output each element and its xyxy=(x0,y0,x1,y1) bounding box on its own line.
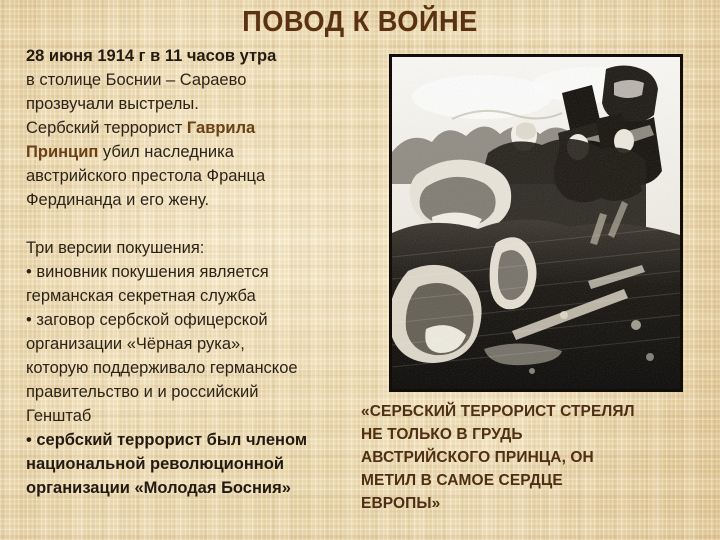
bullet-item-continuation: организации «Молодая Босния» xyxy=(26,476,362,500)
bullet-item-continuation: германская секретная служба xyxy=(26,284,362,308)
bullet-item-continuation: организации «Чёрная рука», xyxy=(26,332,362,356)
bullet-1-line-2: германская секретная служба xyxy=(26,287,256,305)
assassin-lastname: Принцип xyxy=(26,143,98,161)
sarajevo-assassination-image xyxy=(389,54,683,392)
bullet-2-line-5: Генштаб xyxy=(26,407,91,425)
bullet-item: • заговор сербской офицерской xyxy=(26,308,362,332)
bullet-3-line-2: национальной революционной xyxy=(26,455,284,473)
quote-line: «СЕРБСКИЙ ТЕРРОРИСТ СТРЕЛЯЛ xyxy=(361,400,713,423)
paragraph-line: 28 июня 1914 г в 11 часов утра xyxy=(26,44,362,68)
shots-line: прозвучали выстрелы. xyxy=(26,95,199,113)
bullet-1-line-1: • виновник покушения является xyxy=(26,263,269,281)
paragraph-line: Фердинанда и его жену. xyxy=(26,188,362,212)
killed-heir-text: убил наследника xyxy=(98,143,234,161)
bullet-2-line-4: правительство и и российский xyxy=(26,383,258,401)
austrian-throne-line: австрийского престола Франца xyxy=(26,167,265,185)
bullet-item-continuation: правительство и и российский xyxy=(26,380,362,404)
location-line: в столице Боснии – Сараево xyxy=(26,71,246,89)
bullet-item-continuation: которую поддерживало германское xyxy=(26,356,362,380)
bullet-item-continuation: Генштаб xyxy=(26,404,362,428)
bullet-2-line-1: • заговор сербской офицерской xyxy=(26,311,268,329)
body-text-block: 28 июня 1914 г в 11 часов утра в столице… xyxy=(26,44,362,500)
bullet-item: • сербский террорист был членом xyxy=(26,428,362,452)
versions-heading: Три версии покушения: xyxy=(26,236,362,260)
bullet-3-line-3: организации «Молодая Босния» xyxy=(26,479,291,497)
page-title: ПОВОД К ВОЙНЕ xyxy=(22,4,699,40)
versions-heading-text: Три версии покушения: xyxy=(26,239,204,257)
bullet-item: • виновник покушения является xyxy=(26,260,362,284)
paragraph-line: Сербский террорист Гаврила xyxy=(26,116,362,140)
ferdinand-wife-line: Фердинанда и его жену. xyxy=(26,191,209,209)
terrorist-label: Сербский террорист xyxy=(26,119,187,137)
quote-line: ЕВРОПЫ» xyxy=(361,492,713,515)
assassin-firstname: Гаврила xyxy=(187,119,255,137)
quote-block: «СЕРБСКИЙ ТЕРРОРИСТ СТРЕЛЯЛ НЕ ТОЛЬКО В … xyxy=(361,400,713,515)
paragraph-spacer xyxy=(26,212,362,236)
slide-canvas: ПОВОД К ВОЙНЕ 28 июня 1914 г в 11 часов … xyxy=(0,0,720,540)
paragraph-line: Принцип убил наследника xyxy=(26,140,362,164)
quote-line: АВСТРИЙСКОГО ПРИНЦА, ОН xyxy=(361,446,713,469)
bullet-2-line-2: организации «Чёрная рука», xyxy=(26,335,245,353)
paragraph-line: австрийского престола Франца xyxy=(26,164,362,188)
date-time-text: 28 июня 1914 г в 11 часов утра xyxy=(26,47,276,65)
paragraph-line: прозвучали выстрелы. xyxy=(26,92,362,116)
paragraph-line: в столице Боснии – Сараево xyxy=(26,68,362,92)
bullet-3-line-1: • сербский террорист был членом xyxy=(26,431,307,449)
engraving-artwork xyxy=(392,57,680,389)
bullet-item-continuation: национальной революционной xyxy=(26,452,362,476)
quote-line: НЕ ТОЛЬКО В ГРУДЬ xyxy=(361,423,713,446)
quote-line: МЕТИЛ В САМОЕ СЕРДЦЕ xyxy=(361,469,713,492)
bullet-2-line-3: которую поддерживало германское xyxy=(26,359,298,377)
